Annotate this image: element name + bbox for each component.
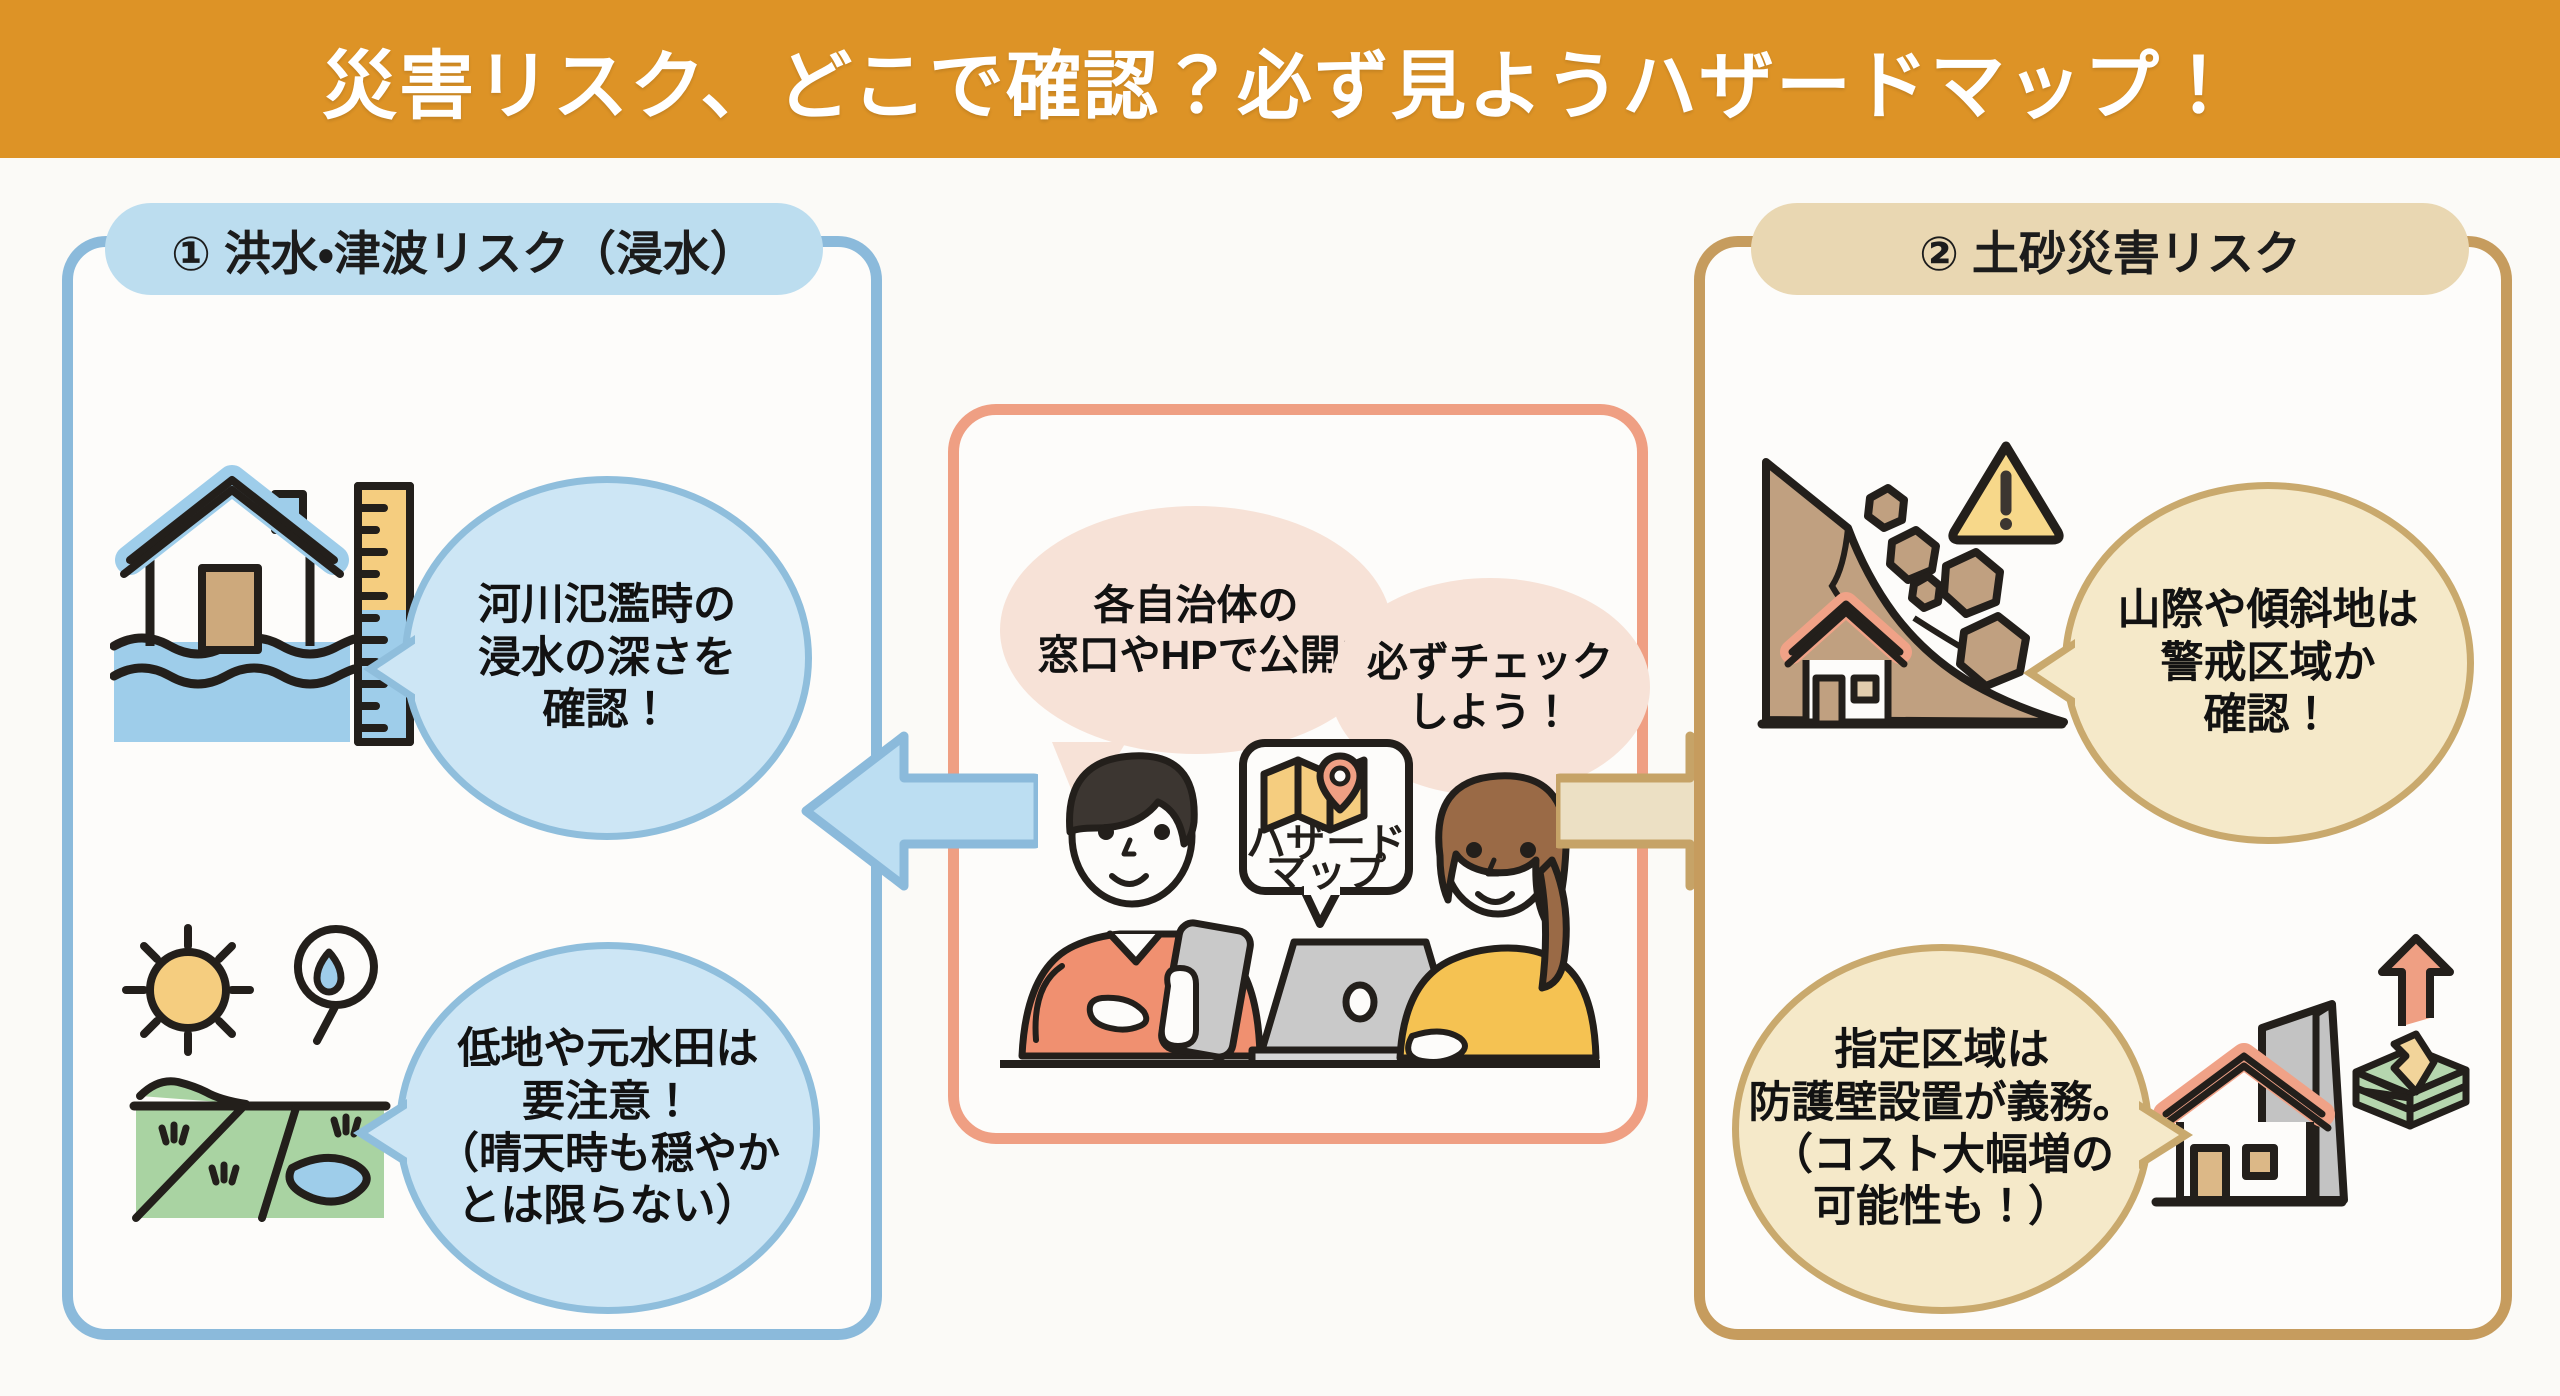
bubble-retaining-wall-cost: 指定区域は 防護壁設置が義務。 （コスト大幅増の 可能性も！） [1732,944,2152,1314]
bubble-tail-inner [377,641,419,697]
bubble-line: 防護壁設置が義務。 [1749,1077,2136,1129]
bubble-tail-inner [2037,645,2079,701]
bubble-line: （晴天時も穏やか [436,1128,780,1180]
bubble-slope-zone: 山際や傾斜地は 警戒区域か 確認！ [2062,482,2474,844]
bubble-line: 各自治体の [1038,580,1355,630]
panel-right-heading: ② 土砂災害リスク [1751,203,2469,295]
flooded-house-with-ruler-icon [110,450,420,750]
infographic-root: 災害リスク、どこで確認？必ず見ようハザードマップ！ ① 洪水・津波リスク（浸水）… [0,0,2560,1396]
bubble-line: 指定区域は [1749,1024,2136,1076]
bubble-line: 警戒区域か [2118,637,2419,689]
page-title-bar: 災害リスク、どこで確認？必ず見ようハザードマップ！ [0,0,2560,158]
bubble-line: 山際や傾斜地は [2118,584,2419,636]
bubble-line: 低地や元水田は [436,1023,780,1075]
bubble-line: 窓口やHPで公開! [1038,630,1355,680]
sunny-field-with-puddle-icon [110,920,410,1230]
bubble-tail-inner [368,1105,412,1161]
arrow-to-left-panel [798,726,1038,896]
bubble-line: 確認！ [478,684,736,736]
page-title: 災害リスク、どこで確認？必ず見ようハザードマップ！ [322,25,2238,134]
bubble-published-by-municipality: 各自治体の 窓口やHPで公開! [1000,506,1392,754]
house-retaining-wall-cost-icon [2150,930,2470,1230]
bubble-line: 浸水の深さを [478,632,736,684]
panel-left-heading: ① 洪水・津波リスク（浸水） [105,203,823,295]
bubble-line: とは限らない） [436,1180,780,1232]
bubble-tail-inner [2135,1107,2179,1163]
map-card-line-2: マップ [1266,851,1386,895]
bubble-line: 必ずチェック [1367,637,1613,687]
bubble-line: 可能性も！） [1749,1181,2136,1233]
bubble-line: 河川氾濫時の [478,579,736,631]
bubble-lowland-warning: 低地や元水田は 要注意！ （晴天時も穏やか とは限らない） [396,942,820,1314]
bubble-line: 確認！ [2118,689,2419,741]
bubble-flood-depth: 河川氾濫時の 浸水の深さを 確認！ [402,476,812,840]
folded-map-with-pin-icon: ハザード マップ [1238,738,1414,934]
bubble-line: （コスト大幅増の [1749,1129,2136,1181]
bubble-line: 要注意！ [436,1076,780,1128]
